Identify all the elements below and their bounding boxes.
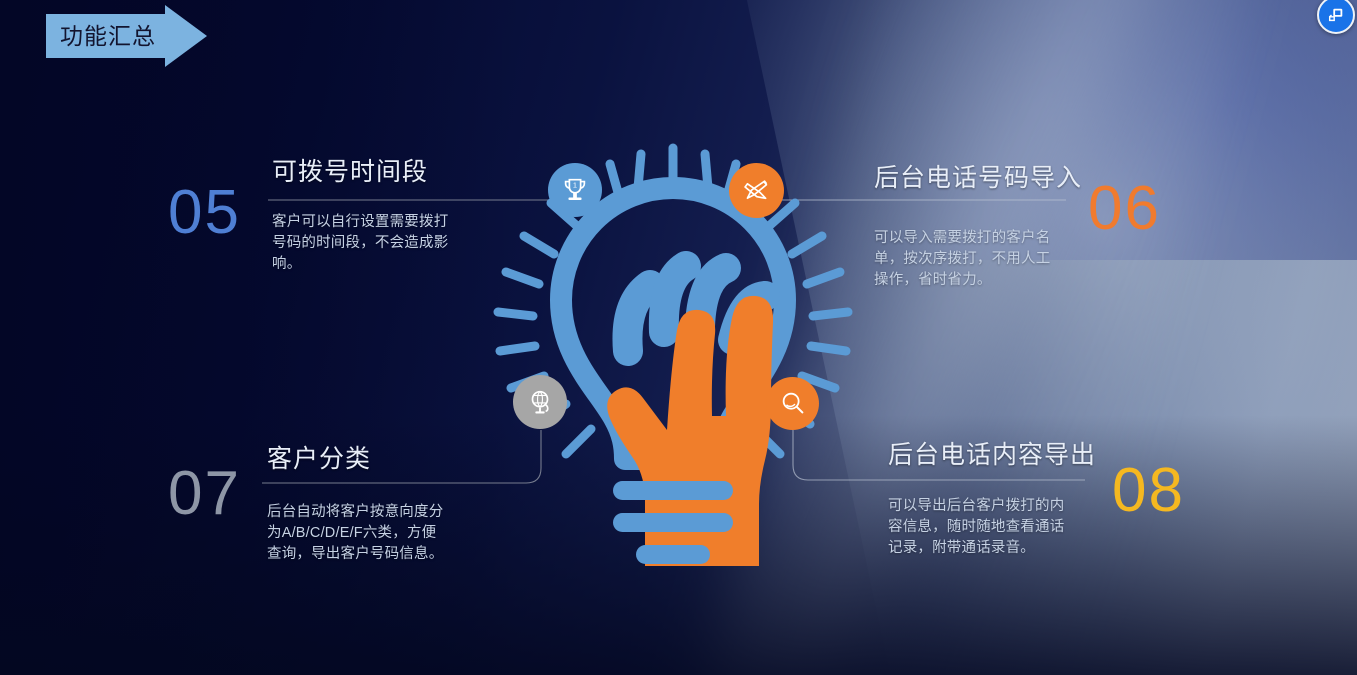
- banner-body: 功能汇总: [46, 14, 166, 58]
- feature-body-06: 可以导入需要拨打的客户名单，按次序拨打，不用人工操作，省时省力。: [874, 228, 1054, 291]
- globe-icon: [525, 387, 555, 417]
- badge-globe[interactable]: [513, 375, 567, 429]
- feature-body-05: 客户可以自行设置需要拨打号码的时间段，不会造成影响。: [272, 212, 452, 275]
- lightbulb-illustration: [478, 136, 868, 566]
- feature-title-08: 后台电话内容导出: [888, 443, 1096, 468]
- banner-arrow-head: [165, 5, 207, 67]
- feature-number-08: 08: [1112, 460, 1185, 522]
- feature-title-06: 后台电话号码导入: [874, 166, 1082, 191]
- screenshot-icon: [1327, 6, 1345, 24]
- section-banner: 功能汇总: [46, 5, 207, 67]
- badge-trophy[interactable]: 1: [548, 163, 602, 217]
- feature-body-07: 后台自动将客户按意向度分为A/B/C/D/E/F六类，方便查询，导出客户号码信息…: [267, 502, 447, 565]
- trophy-badge-number: 1: [573, 181, 577, 190]
- feature-title-07: 客户分类: [267, 447, 371, 472]
- badge-design-tools[interactable]: [729, 163, 784, 218]
- feature-number-06: 06: [1088, 178, 1161, 240]
- magnifier-icon: [778, 389, 808, 419]
- slide-canvas: 功能汇总: [0, 0, 1357, 675]
- feature-title-05: 可拨号时间段: [272, 160, 428, 185]
- design-tools-icon: [742, 176, 772, 206]
- badge-search[interactable]: [766, 377, 819, 430]
- banner-label: 功能汇总: [60, 25, 156, 48]
- feature-body-08: 可以导出后台客户拨打的内容信息，随时随地查看通话记录，附带通话录音。: [888, 496, 1078, 559]
- feature-number-07: 07: [168, 463, 241, 525]
- trophy-icon: 1: [560, 175, 590, 205]
- feature-number-05: 05: [168, 182, 241, 244]
